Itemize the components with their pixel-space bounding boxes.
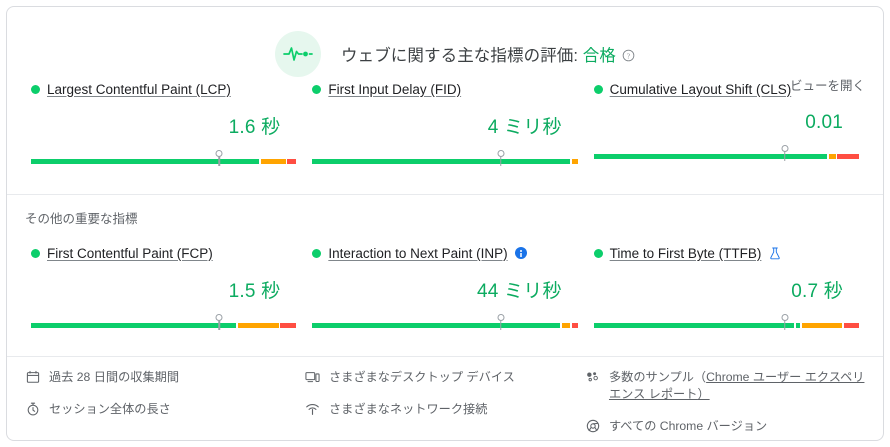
metric-fcp-bar bbox=[31, 314, 296, 332]
page-title-prefix: ウェブに関する主な指標の評価: bbox=[341, 47, 583, 65]
other-metrics-row: First Contentful Paint (FCP) 1.5 秒 bbox=[23, 243, 867, 332]
bar-segment-good bbox=[312, 159, 570, 164]
samples-icon bbox=[585, 370, 601, 384]
status-dot-icon bbox=[312, 249, 321, 258]
metric-fid-value: 4 ミリ秒 bbox=[312, 112, 577, 139]
footer-column-2: さまざまなデスクトップ デバイス さまざまなネットワーク接続 bbox=[305, 369, 585, 441]
bar-segment-poor bbox=[572, 323, 578, 328]
footer-item-label: さまざまなデスクトップ デバイス bbox=[329, 369, 515, 386]
flask-icon[interactable] bbox=[769, 247, 781, 260]
metric-inp-bar-track bbox=[312, 323, 577, 328]
metric-lcp-marker-stem bbox=[219, 156, 221, 166]
status-dot-icon bbox=[312, 85, 321, 94]
pulse-icon bbox=[275, 31, 321, 77]
core-metrics-section: Largest Contentful Paint (LCP) 1.6 秒 bbox=[7, 79, 883, 168]
other-metrics-section: First Contentful Paint (FCP) 1.5 秒 bbox=[7, 243, 883, 332]
metric-ttfb-value: 0.7 秒 bbox=[594, 276, 859, 303]
metric-ttfb-bar-track bbox=[594, 323, 859, 328]
footer-item-label: 過去 28 日間の収集期間 bbox=[49, 369, 179, 386]
bar-segment-good bbox=[312, 323, 560, 328]
metric-fcp-header: First Contentful Paint (FCP) bbox=[31, 243, 296, 263]
bar-segment-needs-improvement bbox=[572, 159, 578, 164]
status-dot-icon bbox=[594, 249, 603, 258]
footer-item-label: さまざまなネットワーク接続 bbox=[329, 401, 487, 418]
footer-samples-prefix: 多数のサンプル（ bbox=[609, 370, 706, 384]
bar-segment-poor bbox=[287, 159, 296, 164]
metric-fcp-value: 1.5 秒 bbox=[31, 276, 296, 303]
bar-segment-needs-improvement bbox=[802, 323, 842, 328]
svg-text:?: ? bbox=[627, 52, 630, 60]
bar-segment-needs-improvement bbox=[829, 154, 836, 159]
footer-item-label: セッション全体の長さ bbox=[49, 401, 171, 418]
metric-inp-name[interactable]: Interaction to Next Paint (INP) bbox=[328, 246, 507, 261]
metric-fid-name[interactable]: First Input Delay (FID) bbox=[328, 82, 461, 97]
bar-segment-needs-improvement bbox=[562, 323, 570, 328]
metric-lcp-name[interactable]: Largest Contentful Paint (LCP) bbox=[47, 82, 231, 97]
metric-inp-marker-stem bbox=[500, 320, 502, 330]
footer-item-devices: さまざまなデスクトップ デバイス bbox=[305, 369, 575, 386]
metric-fcp-name[interactable]: First Contentful Paint (FCP) bbox=[47, 246, 213, 261]
bar-segment-poor bbox=[844, 323, 859, 328]
chrome-icon bbox=[585, 419, 601, 433]
bar-segment-needs-improvement bbox=[261, 159, 286, 164]
card-header: ウェブに関する主な指標の評価: 合格 ? ビューを開く bbox=[7, 7, 883, 79]
footer-metadata: 過去 28 日間の収集期間 セッション全体の長さ bbox=[7, 357, 883, 441]
footer-item-chrome-versions: すべての Chrome バージョン bbox=[585, 418, 865, 435]
footer-samples-suffix: ） bbox=[697, 387, 709, 401]
web-vitals-screen: ウェブに関する主な指標の評価: 合格 ? ビューを開く Larges bbox=[0, 0, 890, 447]
wifi-icon bbox=[305, 402, 321, 416]
metric-inp-value: 44 ミリ秒 bbox=[312, 276, 577, 303]
metric-cls-name[interactable]: Cumulative Layout Shift (CLS) bbox=[610, 82, 792, 97]
metric-cls-bar-track bbox=[594, 154, 859, 159]
header-title-group: ウェブに関する主な指標の評価: 合格 ? bbox=[275, 31, 635, 77]
metric-lcp-bar-track bbox=[31, 159, 296, 164]
metric-lcp-value: 1.6 秒 bbox=[31, 112, 296, 139]
info-badge-icon[interactable] bbox=[515, 247, 527, 259]
metric-cls-marker-stem bbox=[784, 151, 786, 161]
metric-inp-header: Interaction to Next Paint (INP) bbox=[312, 243, 577, 263]
status-dot-icon bbox=[31, 249, 40, 258]
help-circle-icon[interactable]: ? bbox=[622, 48, 635, 67]
footer-column-1: 過去 28 日間の収集期間 セッション全体の長さ bbox=[25, 369, 305, 441]
bar-segment-good bbox=[594, 154, 827, 159]
core-web-vitals-card: ウェブに関する主な指標の評価: 合格 ? ビューを開く Larges bbox=[6, 6, 884, 441]
bar-segment-poor bbox=[280, 323, 296, 328]
metric-ttfb: Time to First Byte (TTFB) 0.7 秒 bbox=[586, 243, 867, 332]
footer-item-collection-period: 過去 28 日間の収集期間 bbox=[25, 369, 295, 386]
metric-fid-marker-stem bbox=[500, 156, 502, 166]
other-metrics-subheading: その他の重要な指標 bbox=[7, 195, 883, 227]
assessment-status: 合格 bbox=[583, 47, 616, 65]
desktop-icon bbox=[305, 370, 321, 384]
calendar-icon bbox=[25, 370, 41, 384]
metric-cls-value: 0.01 bbox=[594, 112, 859, 134]
metric-lcp-bar bbox=[31, 150, 296, 168]
footer-item-network: さまざまなネットワーク接続 bbox=[305, 401, 575, 418]
footer-column-3: 多数のサンプル（Chrome ユーザー エクスペリエンス レポート） すべての … bbox=[585, 369, 865, 441]
footer-item-session-length: セッション全体の長さ bbox=[25, 401, 295, 418]
footer-item-samples: 多数のサンプル（Chrome ユーザー エクスペリエンス レポート） bbox=[585, 369, 865, 403]
bar-segment-good bbox=[594, 323, 794, 328]
metric-cls-bar bbox=[594, 145, 859, 163]
metric-fid-bar bbox=[312, 150, 577, 168]
metric-inp-bar bbox=[312, 314, 577, 332]
status-dot-icon bbox=[31, 85, 40, 94]
bar-segment-good bbox=[31, 323, 236, 328]
metric-fid-header: First Input Delay (FID) bbox=[312, 79, 577, 99]
bar-segment-needs-improvement bbox=[238, 323, 279, 328]
page-title: ウェブに関する主な指標の評価: 合格 ? bbox=[341, 42, 635, 67]
footer-item-label: すべての Chrome バージョン bbox=[609, 418, 767, 435]
stopwatch-icon bbox=[25, 402, 41, 416]
metric-lcp-header: Largest Contentful Paint (LCP) bbox=[31, 79, 296, 99]
metric-inp: Interaction to Next Paint (INP) 44 ミリ秒 bbox=[304, 243, 585, 332]
metric-fcp-marker-stem bbox=[219, 320, 221, 330]
status-dot-icon bbox=[594, 85, 603, 94]
bar-segment-poor bbox=[837, 154, 859, 159]
metric-ttfb-header: Time to First Byte (TTFB) bbox=[594, 243, 859, 263]
metric-fid: First Input Delay (FID) 4 ミリ秒 bbox=[304, 79, 585, 168]
metric-fcp: First Contentful Paint (FCP) 1.5 秒 bbox=[23, 243, 304, 332]
metric-cls: Cumulative Layout Shift (CLS) 0.01 bbox=[586, 79, 867, 168]
metric-lcp: Largest Contentful Paint (LCP) 1.6 秒 bbox=[23, 79, 304, 168]
metric-fcp-bar-track bbox=[31, 323, 296, 328]
bar-segment-good bbox=[31, 159, 259, 164]
metric-ttfb-name[interactable]: Time to First Byte (TTFB) bbox=[610, 246, 762, 261]
core-metrics-row: Largest Contentful Paint (LCP) 1.6 秒 bbox=[23, 79, 867, 168]
metric-ttfb-bar bbox=[594, 314, 859, 332]
footer-item-samples-text: 多数のサンプル（Chrome ユーザー エクスペリエンス レポート） bbox=[609, 369, 865, 403]
metric-cls-header: Cumulative Layout Shift (CLS) bbox=[594, 79, 859, 99]
metric-ttfb-marker-stem bbox=[784, 320, 786, 330]
metric-fid-bar-track bbox=[312, 159, 577, 164]
